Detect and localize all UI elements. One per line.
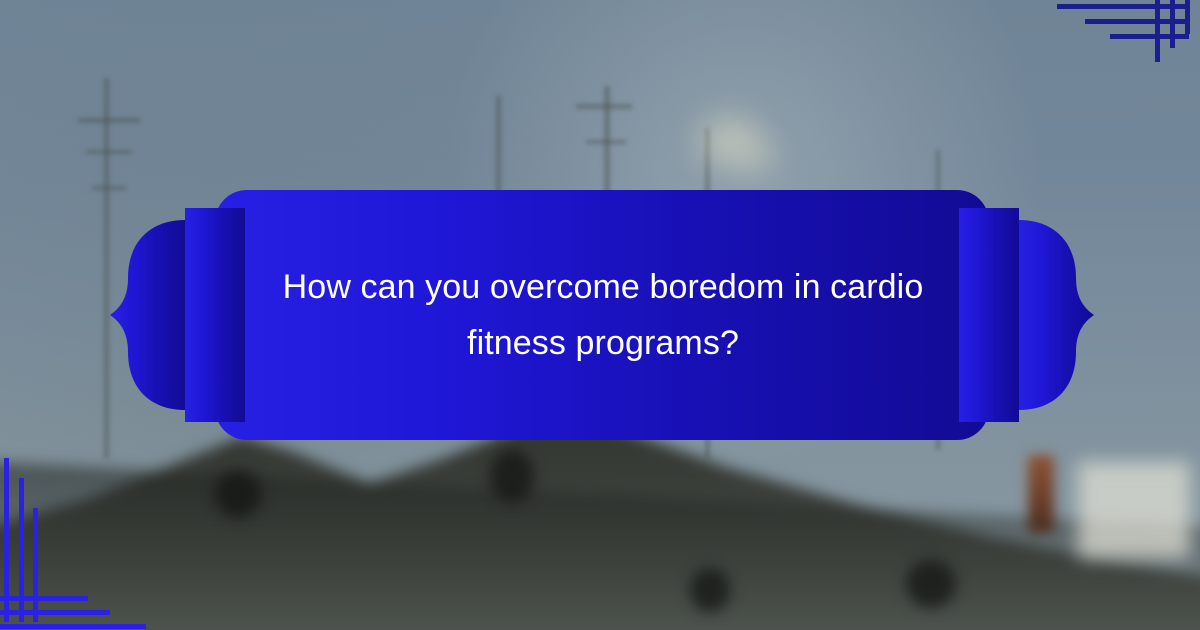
corner-line-horizontal — [0, 624, 146, 629]
corner-line-vertical — [1170, 0, 1175, 48]
corner-line-vertical — [33, 508, 38, 622]
bubble-headline: How can you overcome boredom in cardio f… — [238, 190, 968, 440]
roof-detail — [490, 450, 534, 502]
corner-line-horizontal — [0, 610, 110, 615]
corner-line-vertical — [1185, 0, 1190, 34]
antenna-crossbar — [78, 118, 140, 123]
light-haze-blob — [740, 140, 774, 170]
bright-wall-patch — [1078, 462, 1190, 558]
antenna-crossbar — [586, 140, 626, 144]
roof-detail — [690, 568, 730, 612]
social-card: How can you overcome boredom in cardio f… — [0, 0, 1200, 630]
antenna-crossbar — [86, 150, 132, 154]
corner-line-vertical — [1155, 0, 1160, 62]
chimney — [1028, 455, 1054, 533]
antenna-crossbar — [576, 104, 632, 109]
roof-detail — [215, 470, 261, 518]
roof-detail — [906, 560, 956, 608]
quote-bubble: How can you overcome boredom in cardio f… — [110, 190, 1094, 440]
corner-line-horizontal — [1110, 34, 1189, 39]
corner-line-horizontal — [0, 596, 88, 601]
